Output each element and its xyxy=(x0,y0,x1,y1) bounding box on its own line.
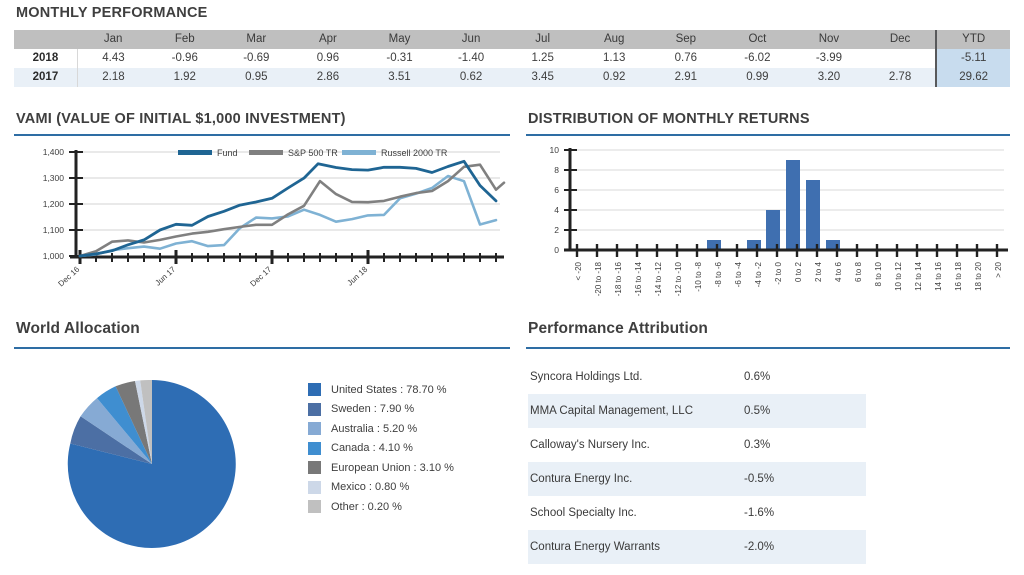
table-row: School Specialty Inc. -1.6% xyxy=(528,496,866,530)
world-allocation-pie xyxy=(60,358,310,558)
attribution-name: Calloway's Nursery Inc. xyxy=(530,439,744,451)
performance-attribution-rule xyxy=(526,347,1010,349)
legend-label-russell2000: Russell 2000 TR xyxy=(381,148,448,158)
svg-text:10 to 12: 10 to 12 xyxy=(894,261,903,290)
svg-text:18 to 20: 18 to 20 xyxy=(974,261,983,290)
svg-text:< -20: < -20 xyxy=(574,261,583,280)
svg-text:1,400: 1,400 xyxy=(43,147,65,157)
table-row: Syncora Holdings Ltd. 0.6% xyxy=(528,360,866,394)
svg-text:10: 10 xyxy=(550,145,560,155)
vami-title-rule xyxy=(14,134,510,136)
attribution-value: 0.5% xyxy=(744,405,864,417)
svg-text:1,300: 1,300 xyxy=(43,173,65,183)
svg-text:6 to 8: 6 to 8 xyxy=(854,261,863,282)
legend-swatch-other xyxy=(308,500,321,513)
attribution-name: MMA Capital Management, LLC xyxy=(530,405,744,417)
cell-2017-nov: 3.20 xyxy=(793,68,865,87)
cell-2017-jun: 0.62 xyxy=(435,68,507,87)
legend-item-australia: Australia : 5.20 % xyxy=(308,419,454,439)
svg-text:8 to 10: 8 to 10 xyxy=(874,261,883,286)
cell-2018-may: -0.31 xyxy=(364,49,436,68)
cell-2017-ytd: 29.62 xyxy=(936,68,1010,87)
attribution-value: 0.6% xyxy=(744,371,864,383)
table-header-row: Jan Feb Mar Apr May Jun Jul Aug Sep Oct … xyxy=(14,30,1010,49)
dist-y-tick-labels: 10 8 6 4 2 0 xyxy=(550,145,560,255)
cell-2018-sep: 0.76 xyxy=(650,49,722,68)
svg-text:-8 to -6: -8 to -6 xyxy=(714,261,723,287)
dist-bars xyxy=(707,160,840,250)
cell-2017-feb: 1.92 xyxy=(149,68,221,87)
legend-swatch-canada xyxy=(308,442,321,455)
cell-2017-dec: 2.78 xyxy=(865,68,937,87)
svg-text:1,000: 1,000 xyxy=(43,251,65,261)
legend-label-other: Other : 0.20 % xyxy=(331,501,402,513)
cell-2017-jul: 3.45 xyxy=(507,68,579,87)
svg-text:-2 to 0: -2 to 0 xyxy=(774,261,783,284)
table-row: Contura Energy Inc. -0.5% xyxy=(528,462,866,496)
vami-x-tick-labels: Dec 16 Jun 17 Dec 17 Jun 18 xyxy=(56,264,369,288)
cell-2018-jun: -1.40 xyxy=(435,49,507,68)
legend-label-australia: Australia : 5.20 % xyxy=(331,423,417,435)
attribution-value: -1.6% xyxy=(744,507,864,519)
bar-2-to-4 xyxy=(806,180,820,250)
svg-text:4 to 6: 4 to 6 xyxy=(834,261,843,282)
cell-2018-apr: 0.96 xyxy=(292,49,364,68)
distribution-title-rule xyxy=(526,134,1010,136)
cell-2018-oct: -6.02 xyxy=(722,49,794,68)
world-allocation-legend: United States : 78.70 % Sweden : 7.90 % … xyxy=(308,380,454,517)
cell-2018-dec xyxy=(865,49,937,68)
cell-2018-jul: 1.25 xyxy=(507,49,579,68)
col-header-oct: Oct xyxy=(722,30,794,49)
svg-text:-20 to -18: -20 to -18 xyxy=(594,261,603,296)
legend-swatch-australia xyxy=(308,422,321,435)
svg-text:-14 to -12: -14 to -12 xyxy=(654,261,663,296)
svg-text:1,200: 1,200 xyxy=(43,199,65,209)
table-row: 2017 2.18 1.92 0.95 2.86 3.51 0.62 3.45 … xyxy=(14,68,1010,87)
monthly-performance-table: Jan Feb Mar Apr May Jun Jul Aug Sep Oct … xyxy=(14,30,1010,87)
legend-label-mexico: Mexico : 0.80 % xyxy=(331,481,409,493)
col-header-aug: Aug xyxy=(578,30,650,49)
vami-chart: 1,400 1,300 1,200 1,100 1,000 xyxy=(14,140,514,305)
legend-label-european-union: European Union : 3.10 % xyxy=(331,462,454,474)
row-year-2018: 2018 xyxy=(14,49,77,68)
attribution-name: Contura Energy Warrants xyxy=(530,541,744,553)
vami-series-fund xyxy=(80,161,496,256)
legend-label-united-states: United States : 78.70 % xyxy=(331,384,447,396)
cell-2018-feb: -0.96 xyxy=(149,49,221,68)
svg-text:-12 to -10: -12 to -10 xyxy=(674,261,683,296)
vami-title: VAMI (VALUE OF INITIAL $1,000 INVESTMENT… xyxy=(16,111,346,127)
legend-swatch-mexico xyxy=(308,481,321,494)
table-row: MMA Capital Management, LLC 0.5% xyxy=(528,394,866,428)
fund-factsheet-page: MONTHLY PERFORMANCE Jan Feb Mar Apr May … xyxy=(0,0,1024,575)
cell-2017-sep: 2.91 xyxy=(650,68,722,87)
svg-text:14 to 16: 14 to 16 xyxy=(934,261,943,290)
svg-text:Dec 17: Dec 17 xyxy=(248,264,273,288)
attribution-value: 0.3% xyxy=(744,439,864,451)
col-header-feb: Feb xyxy=(149,30,221,49)
legend-item-mexico: Mexico : 0.80 % xyxy=(308,478,454,498)
col-header-apr: Apr xyxy=(292,30,364,49)
col-header-jul: Jul xyxy=(507,30,579,49)
svg-text:Jun 17: Jun 17 xyxy=(153,264,177,287)
legend-swatch-european-union xyxy=(308,461,321,474)
distribution-chart: 10 8 6 4 2 0 xyxy=(526,140,1018,305)
svg-text:-18 to -16: -18 to -16 xyxy=(614,261,623,296)
legend-item-sweden: Sweden : 7.90 % xyxy=(308,400,454,420)
legend-label-sp500: S&P 500 TR xyxy=(288,148,338,158)
legend-label-sweden: Sweden : 7.90 % xyxy=(331,403,414,415)
svg-text:Dec 16: Dec 16 xyxy=(56,264,81,288)
legend-item-united-states: United States : 78.70 % xyxy=(308,380,454,400)
monthly-performance-title: MONTHLY PERFORMANCE xyxy=(16,5,208,21)
attribution-name: Syncora Holdings Ltd. xyxy=(530,371,744,383)
svg-text:> 20: > 20 xyxy=(994,261,1003,277)
attribution-name: Contura Energy Inc. xyxy=(530,473,744,485)
legend-item-canada: Canada : 4.10 % xyxy=(308,439,454,459)
svg-text:0 to 2: 0 to 2 xyxy=(794,261,803,282)
cell-2018-ytd: -5.11 xyxy=(936,49,1010,68)
cell-2018-aug: 1.13 xyxy=(578,49,650,68)
table-row: 2018 4.43 -0.96 -0.69 0.96 -0.31 -1.40 1… xyxy=(14,49,1010,68)
col-header-mar: Mar xyxy=(221,30,293,49)
col-header-may: May xyxy=(364,30,436,49)
svg-text:2: 2 xyxy=(554,225,559,235)
row-year-2017: 2017 xyxy=(14,68,77,87)
svg-text:2 to 4: 2 to 4 xyxy=(814,261,823,282)
col-header-jun: Jun xyxy=(435,30,507,49)
legend-label-fund: Fund xyxy=(217,148,238,158)
table-row: Calloway's Nursery Inc. 0.3% xyxy=(528,428,866,462)
performance-attribution-list: Syncora Holdings Ltd. 0.6% MMA Capital M… xyxy=(528,360,866,564)
cell-2018-mar: -0.69 xyxy=(221,49,293,68)
distribution-title: DISTRIBUTION OF MONTHLY RETURNS xyxy=(528,111,810,127)
cell-2018-nov: -3.99 xyxy=(793,49,865,68)
svg-text:-16 to -14: -16 to -14 xyxy=(634,261,643,296)
svg-text:0: 0 xyxy=(554,245,559,255)
world-allocation-rule xyxy=(14,347,510,349)
cell-2017-may: 3.51 xyxy=(364,68,436,87)
cell-2017-mar: 0.95 xyxy=(221,68,293,87)
col-header-nov: Nov xyxy=(793,30,865,49)
cell-2017-aug: 0.92 xyxy=(578,68,650,87)
svg-text:Jun 18: Jun 18 xyxy=(345,264,369,287)
svg-text:4: 4 xyxy=(554,205,559,215)
legend-swatch-russell2000 xyxy=(342,150,376,155)
cell-2017-jan: 2.18 xyxy=(77,68,149,87)
dist-x-tick-labels: < -20 -20 to -18 -18 to -16 -16 to -14 -… xyxy=(574,261,1003,296)
svg-text:8: 8 xyxy=(554,165,559,175)
legend-swatch-sweden xyxy=(308,403,321,416)
col-header-dec: Dec xyxy=(865,30,937,49)
svg-text:6: 6 xyxy=(554,185,559,195)
cell-2018-jan: 4.43 xyxy=(77,49,149,68)
legend-item-other: Other : 0.20 % xyxy=(308,497,454,517)
col-header-jan: Jan xyxy=(77,30,149,49)
attribution-value: -2.0% xyxy=(744,541,864,553)
vami-legend: Fund S&P 500 TR Russell 2000 TR xyxy=(178,148,448,158)
svg-text:-6 to -4: -6 to -4 xyxy=(734,261,743,287)
performance-attribution-title: Performance Attribution xyxy=(528,320,708,338)
bar-0-to-2 xyxy=(786,160,800,250)
attribution-value: -0.5% xyxy=(744,473,864,485)
legend-swatch-fund xyxy=(178,150,212,155)
world-allocation-title: World Allocation xyxy=(16,320,140,338)
svg-text:-10 to -8: -10 to -8 xyxy=(694,261,703,291)
col-header-ytd: YTD xyxy=(936,30,1010,49)
attribution-name: School Specialty Inc. xyxy=(530,507,744,519)
legend-swatch-sp500 xyxy=(249,150,283,155)
svg-text:16 to 18: 16 to 18 xyxy=(954,261,963,290)
cell-2017-oct: 0.99 xyxy=(722,68,794,87)
table-row: Contura Energy Warrants -2.0% xyxy=(528,530,866,564)
cell-2017-apr: 2.86 xyxy=(292,68,364,87)
svg-text:-4 to -2: -4 to -2 xyxy=(754,261,763,287)
col-header-sep: Sep xyxy=(650,30,722,49)
svg-text:12 to 14: 12 to 14 xyxy=(914,261,923,290)
pie-slices xyxy=(68,380,236,548)
svg-text:1,100: 1,100 xyxy=(43,225,65,235)
legend-item-european-union: European Union : 3.10 % xyxy=(308,458,454,478)
vami-y-tick-labels: 1,400 1,300 1,200 1,100 1,000 xyxy=(43,147,65,261)
legend-label-canada: Canada : 4.10 % xyxy=(331,442,413,454)
legend-swatch-united-states xyxy=(308,383,321,396)
col-header-blank xyxy=(14,30,77,49)
